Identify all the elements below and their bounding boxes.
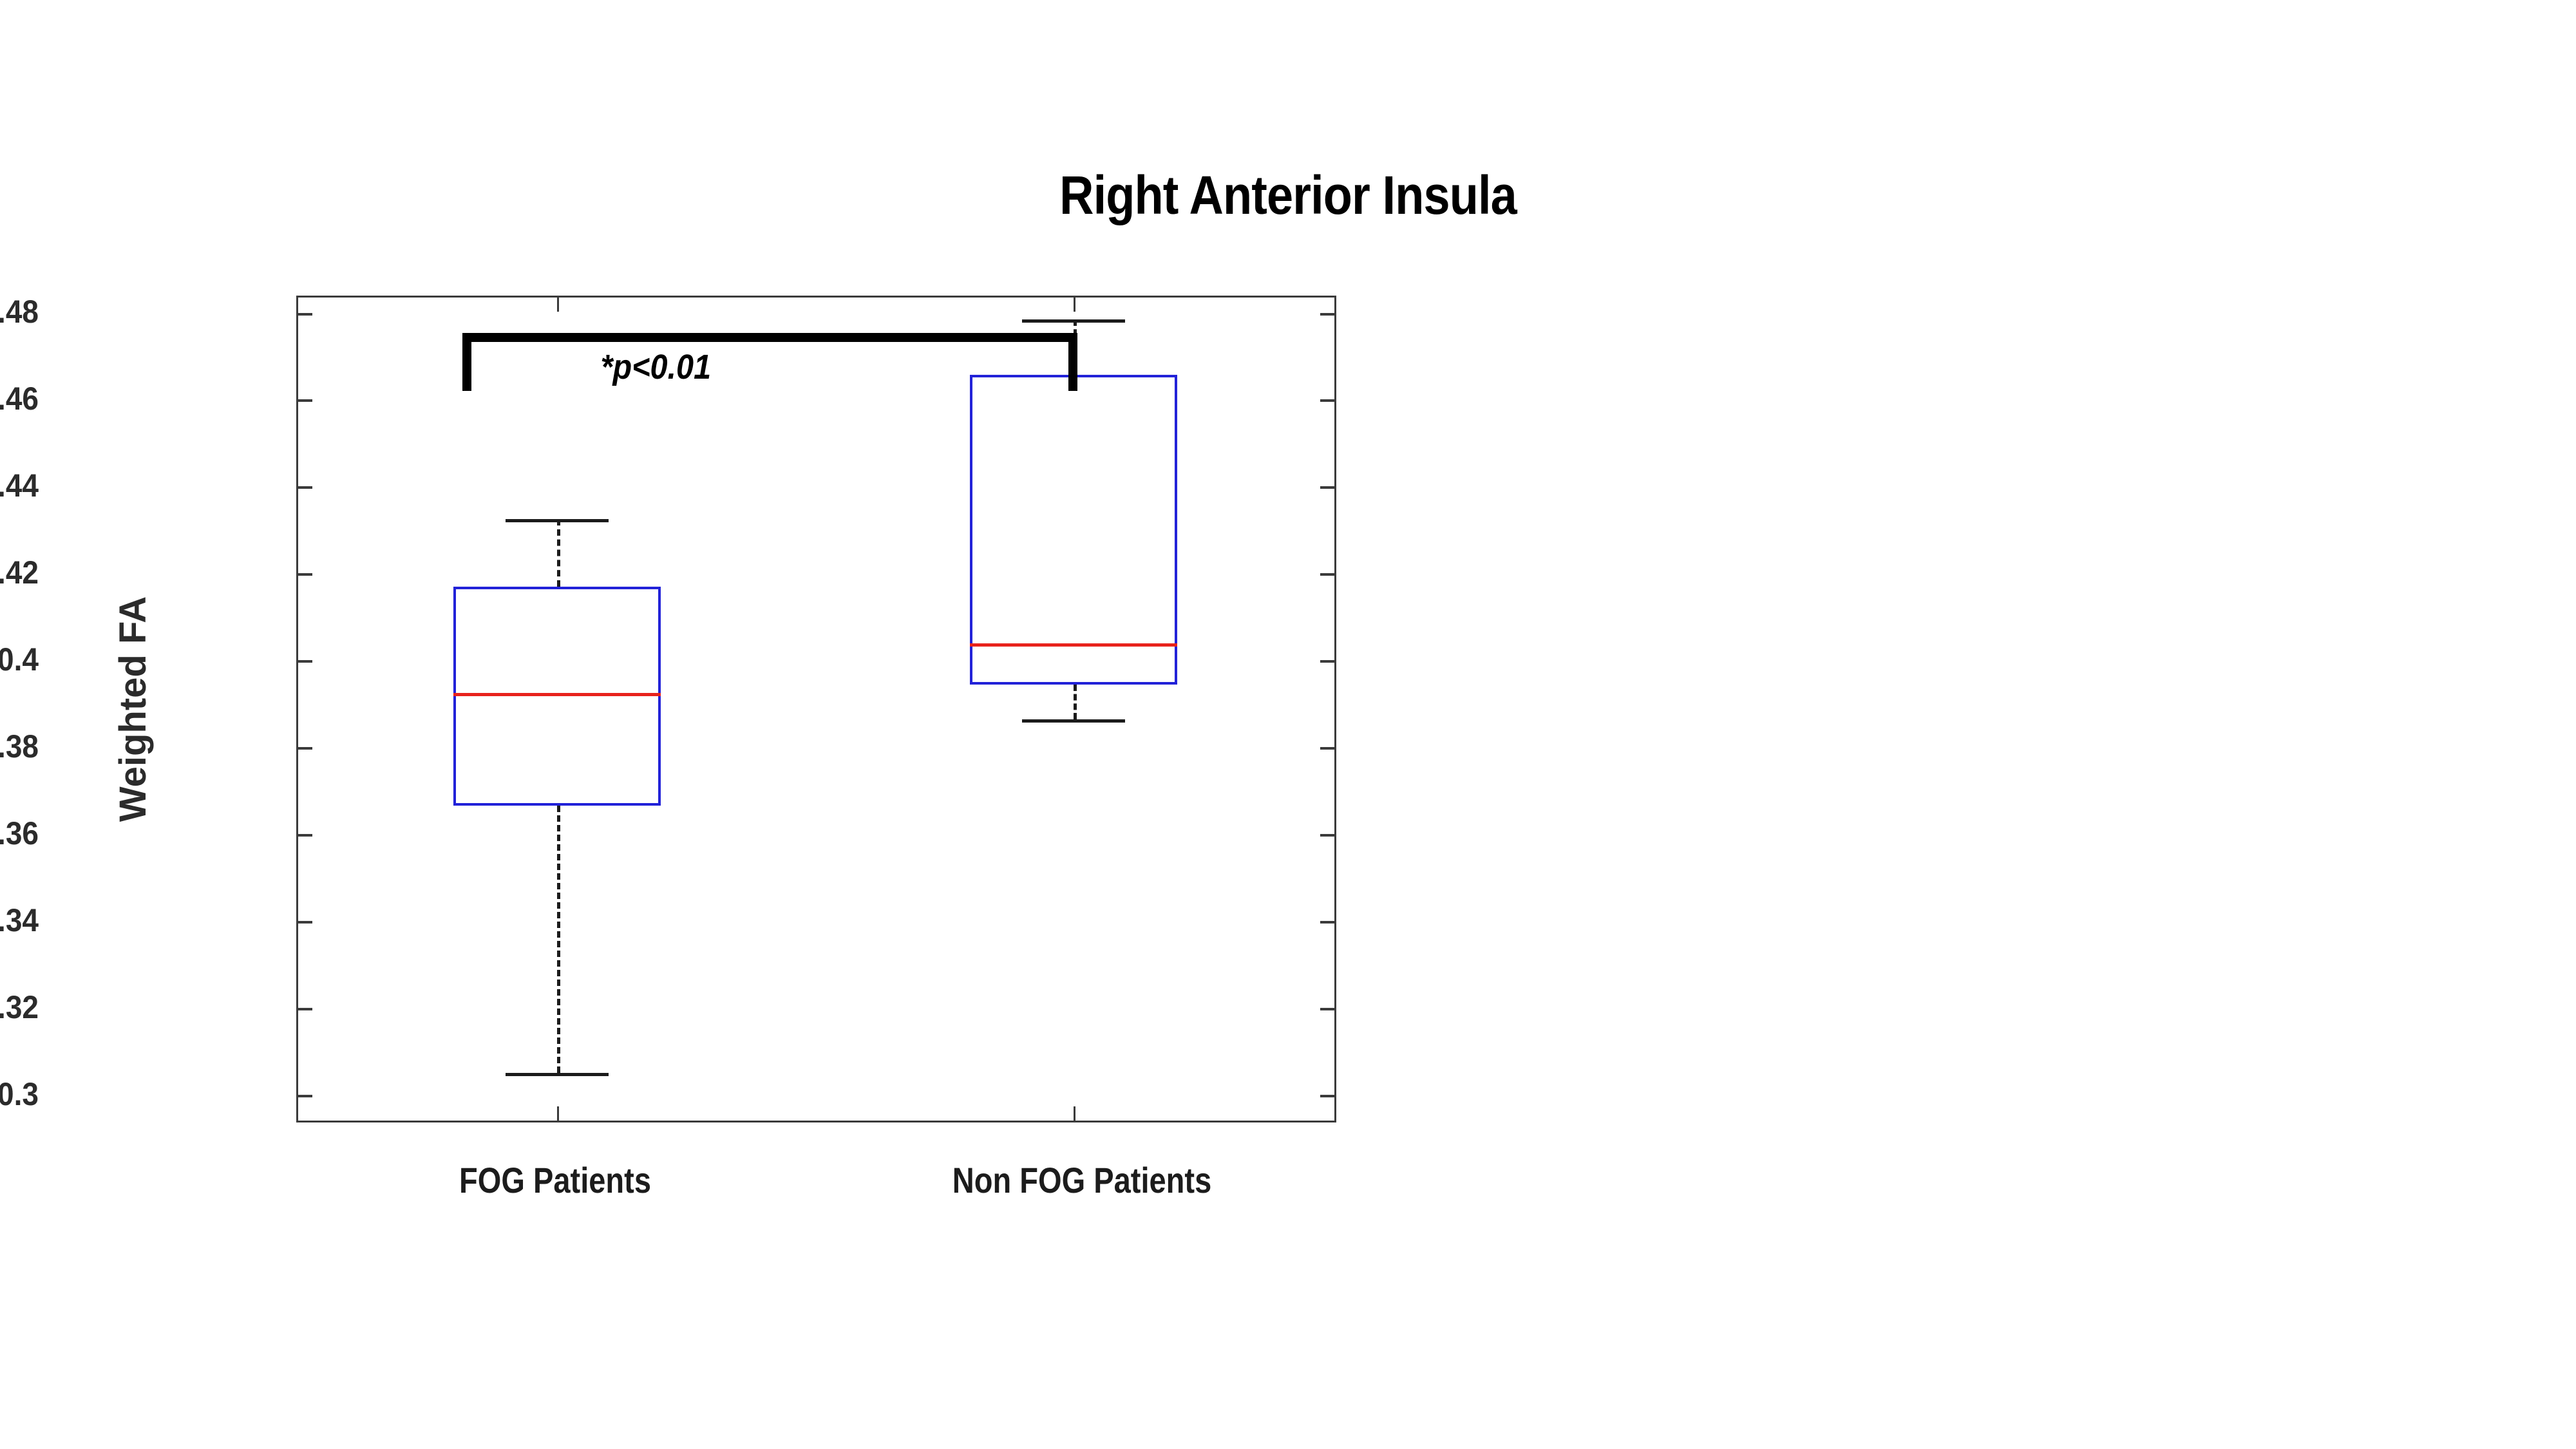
boxplot-ytick-5 <box>298 660 312 663</box>
boxplot-xtick-0b <box>557 1106 559 1121</box>
boxplot-ytick-3r <box>1320 834 1334 837</box>
boxplot-xcat-label-fog: FOG Patients <box>415 1159 696 1201</box>
boxplot-ytick-1 <box>298 1008 312 1010</box>
boxplot-fog-whisker-cap-low <box>506 1073 609 1076</box>
boxplot-panel: Weighted FA 0.3 0.32 0.34 0.36 0.38 0.4 … <box>0 0 1385 1449</box>
boxplot-ytick-9 <box>298 313 312 316</box>
boxplot-fog-box <box>453 587 661 806</box>
significance-bracket: *p<0.01 <box>462 333 1077 391</box>
boxplot-fog-whisker-low <box>557 806 560 1073</box>
boxplot-ytick-2 <box>298 921 312 923</box>
boxplot-ytick-8r <box>1320 399 1334 402</box>
boxplot-nonfog-box <box>970 375 1177 685</box>
boxplot-ytick-label-0: 0.3 <box>0 1075 39 1113</box>
boxplot-ytick-7r <box>1320 486 1334 489</box>
boxplot-ytick-8 <box>298 399 312 402</box>
boxplot-ytick-4 <box>298 747 312 750</box>
boxplot-xtick-0 <box>557 298 559 312</box>
significance-label: *p<0.01 <box>601 347 712 387</box>
boxplot-ytick-3 <box>298 834 312 837</box>
boxplot-ytick-6r <box>1320 573 1334 576</box>
boxplot-ytick-5r <box>1320 660 1334 663</box>
boxplot-fog-whisker-high <box>557 519 560 587</box>
significance-bracket-top <box>462 333 1077 342</box>
boxplot-nonfog-median <box>970 643 1177 647</box>
boxplot-ytick-label-9: 0.48 <box>0 293 39 330</box>
boxplot-ytick-0r <box>1320 1095 1334 1097</box>
boxplot-xcat-label-nonfog: Non FOG Patients <box>920 1159 1244 1201</box>
boxplot-xtick-1 <box>1074 298 1075 312</box>
significance-bracket-right-arm <box>1068 333 1077 391</box>
boxplot-ytick-1r <box>1320 1008 1334 1010</box>
boxplot-xtick-1b <box>1074 1106 1075 1121</box>
boxplot-ytick-4r <box>1320 747 1334 750</box>
boxplot-ytick-label-4: 0.38 <box>0 728 39 765</box>
boxplot-ytick-label-7: 0.44 <box>0 467 39 504</box>
boxplot-yaxis-title: Weighted FA <box>111 296 155 1122</box>
boxplot-ytick-6 <box>298 573 312 576</box>
boxplot-ytick-9r <box>1320 313 1334 316</box>
boxplot-nonfog-whisker-cap-low <box>1022 719 1125 723</box>
boxplot-ytick-label-6: 0.42 <box>0 554 39 591</box>
boxplot-ytick-label-5: 0.4 <box>0 641 39 678</box>
significance-bracket-left-arm <box>462 333 471 391</box>
boxplot-ytick-0 <box>298 1095 312 1097</box>
boxplot-plot-area: *p<0.01 <box>296 296 1336 1122</box>
boxplot-ytick-label-2: 0.34 <box>0 902 39 939</box>
scatter-panel: 0.2 0.3 0.4 0.5 0 20 40 Weighted FA Tota… <box>1385 0 2576 1449</box>
boxplot-ytick-2r <box>1320 921 1334 923</box>
boxplot-nonfog-whisker-low <box>1074 685 1077 719</box>
boxplot-ytick-label-8: 0.46 <box>0 380 39 417</box>
boxplot-ytick-label-1: 0.32 <box>0 989 39 1026</box>
boxplot-ytick-label-3: 0.36 <box>0 815 39 852</box>
boxplot-fog-median <box>453 693 661 696</box>
boxplot-ytick-7 <box>298 486 312 489</box>
